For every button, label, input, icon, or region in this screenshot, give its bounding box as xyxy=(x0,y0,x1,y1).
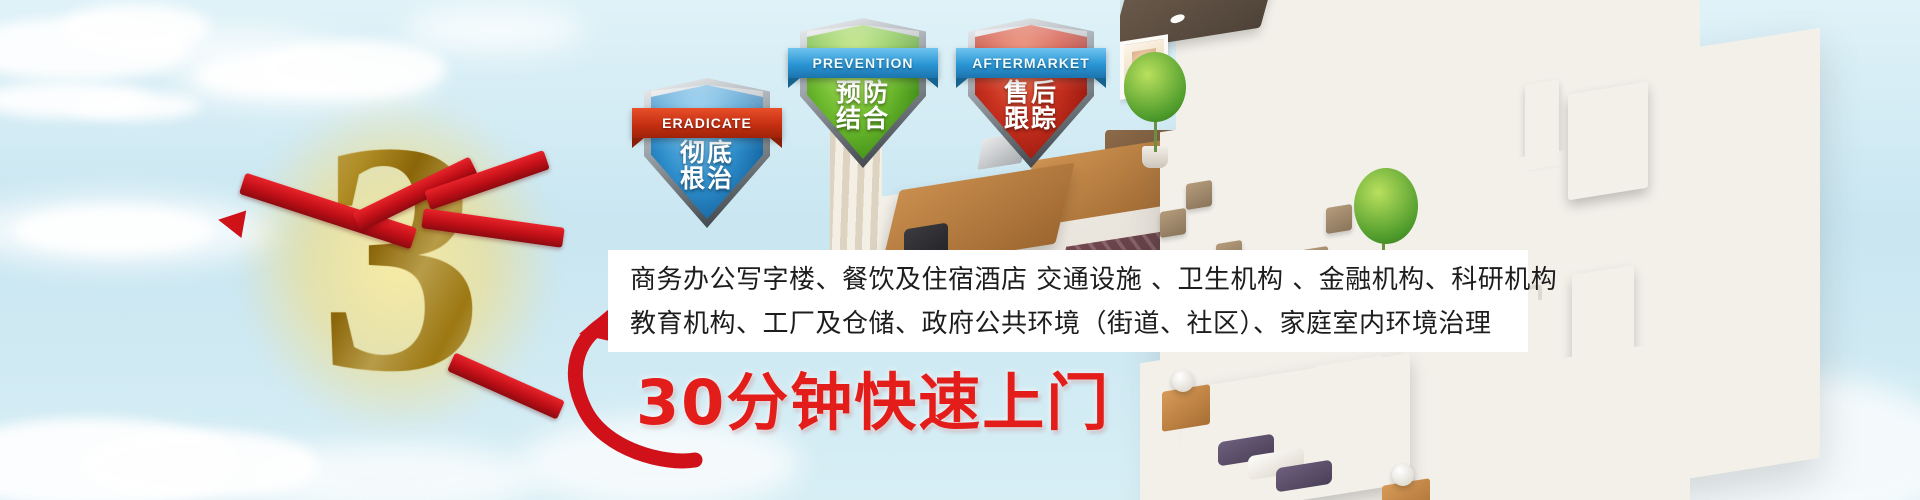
table-lamp xyxy=(1392,464,1414,486)
shield-chinese-line1: 预防 xyxy=(800,80,926,106)
cloud xyxy=(0,418,240,500)
shield-chinese-line1: 售后 xyxy=(968,80,1094,106)
service-scope-panel: 商务办公写字楼、餐饮及住宿酒店 交通设施 、卫生机构 、金融机构、科研机构 教育… xyxy=(608,250,1528,352)
cloud xyxy=(240,444,540,500)
shield-english-banner: AFTERMARKET xyxy=(956,48,1106,78)
shield-english-banner: ERADICATE xyxy=(632,108,782,138)
promo-banner: 3 彻底 根治 ERADICATE 预防 结合 PREVENTION xyxy=(0,0,1920,500)
cloud xyxy=(70,92,200,120)
cloud xyxy=(14,206,214,254)
cloud xyxy=(80,430,320,500)
shield-chinese-line2: 跟踪 xyxy=(968,106,1094,132)
headline-text: 30分钟快速上门 xyxy=(636,352,1110,442)
shield-english-banner: PREVENTION xyxy=(788,48,938,78)
dining-chair xyxy=(1160,208,1186,238)
shield-badge-aftermarket[interactable]: 售后 跟踪 AFTERMARKET xyxy=(968,18,1094,168)
dining-chair xyxy=(1326,204,1352,234)
shield-chinese-text: 售后 跟踪 xyxy=(968,80,1094,133)
table-lamp xyxy=(1172,370,1194,392)
shield-chinese-line2: 根治 xyxy=(644,166,770,192)
shield-chinese-text: 彻底 根治 xyxy=(644,140,770,193)
upper-cabinet xyxy=(1568,82,1648,201)
service-scope-line-2: 教育机构、工厂及仓储、政府公共环境（街道、社区）、家庭室内环境治理 xyxy=(630,302,1528,346)
range-hood xyxy=(1525,79,1559,162)
cloud xyxy=(130,30,330,70)
shield-chinese-text: 预防 结合 xyxy=(800,80,926,133)
cloud xyxy=(0,18,190,80)
cloud xyxy=(404,8,584,52)
shield-chinese-line1: 彻底 xyxy=(644,140,770,166)
shield-chinese-line2: 结合 xyxy=(800,106,926,132)
shield-badge-prevention[interactable]: 预防 结合 PREVENTION xyxy=(800,18,926,168)
cloud xyxy=(0,82,150,118)
marble-floor xyxy=(1540,338,1690,500)
hero-number-3: 3 xyxy=(232,88,562,428)
service-scope-line-1: 商务办公写字楼、餐饮及住宿酒店 交通设施 、卫生机构 、金融机构、科研机构 xyxy=(630,258,1528,302)
ribbon-tail-arrow xyxy=(216,206,246,238)
folded-towel xyxy=(1352,356,1382,387)
dining-chair xyxy=(1186,180,1212,210)
cloud xyxy=(60,4,210,52)
shield-badge-eradicate[interactable]: 彻底 根治 ERADICATE xyxy=(644,78,770,228)
